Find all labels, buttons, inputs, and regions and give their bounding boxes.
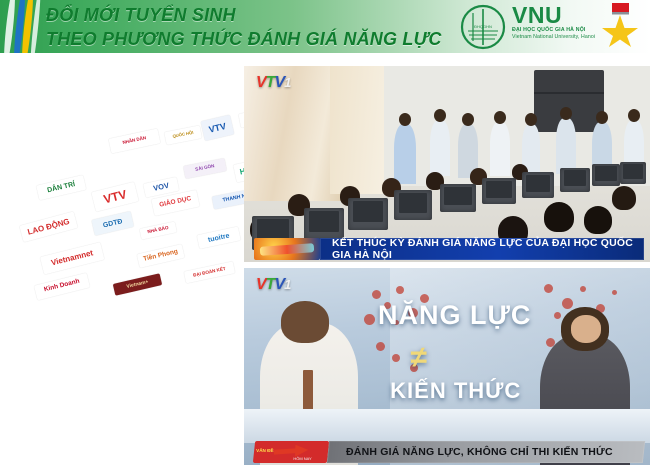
press-logo: LAO ĐỘNG	[19, 211, 77, 242]
slide-root: ĐỔI MỚI TUYỂN SINH THEO PHƯƠNG THỨC ĐÁNH…	[0, 0, 650, 465]
caption-text-bar: KẾT THÚC KỲ ĐÁNH GIÁ NĂNG LỰC CỦA ĐẠI HỌ…	[320, 238, 644, 260]
vnu-wordmark: VNU	[512, 4, 602, 27]
title-line-1: ĐỔI MỚI TUYỂN SINH	[46, 3, 476, 27]
badge-label-van-de: VẤN ĐỀ	[256, 448, 273, 453]
seated-student-head	[612, 186, 636, 210]
standing-person	[430, 120, 450, 176]
standing-person	[556, 118, 576, 174]
exam-computer-monitor	[440, 184, 476, 212]
person-head	[628, 109, 640, 122]
person-head	[434, 109, 446, 122]
badge-label-hom-nay: HÔM NAY	[293, 456, 311, 461]
seated-student-head	[584, 206, 612, 234]
exam-computer-monitor	[482, 178, 516, 204]
exam-room-scene	[244, 66, 650, 262]
flower-decor	[396, 286, 404, 294]
press-logo: Tiền Phong	[137, 244, 185, 268]
seated-student-head	[544, 202, 574, 232]
overlay-text-kien-thuc: KIẾN THỨC	[390, 378, 521, 404]
vtv-letter-v1: V	[256, 276, 266, 293]
flower-decor	[392, 354, 400, 362]
person-head	[560, 107, 572, 120]
vtv-channel-number: 1	[284, 277, 290, 292]
press-logo: Vietnam+	[113, 273, 162, 295]
exam-computer-monitor	[620, 162, 646, 184]
lower-third-caption: KẾT THÚC KỲ ĐÁNH GIÁ NĂNG LỰC CỦA ĐẠI HỌ…	[244, 236, 650, 262]
flower-decor	[544, 284, 553, 293]
overlay-text-nang-luc: NĂNG LỰC	[378, 300, 531, 331]
overlay-symbol-not-equal: ≠	[410, 341, 426, 375]
title-line-2: THEO PHƯƠNG THỨC ĐÁNH GIÁ NĂNG LỰC	[46, 27, 476, 51]
exam-computer-monitor	[348, 198, 388, 230]
press-logo: ĐẠI ĐOÀN KẾT	[184, 261, 235, 283]
news-program-badge	[254, 238, 320, 260]
press-logo: DÂN TRÍ	[36, 175, 86, 200]
press-logo: VTV	[91, 182, 139, 212]
vtv1-channel-logo: VTV1	[256, 74, 290, 92]
studio-desk	[244, 409, 650, 443]
press-logo: Vietnamnet	[40, 242, 105, 274]
lower-third-caption-2: VẤN ĐỀ HÔM NAY ĐÁNH GIÁ NĂNG LỰC, KHÔNG …	[244, 439, 650, 465]
press-logo: NHÂN DÂN	[108, 128, 160, 153]
vnu-emblem-icon: ĐHQGHN	[460, 4, 506, 50]
vtv-letter-v2: V	[274, 276, 284, 293]
press-logo: QUỐC HỘI	[164, 125, 202, 145]
flower-decor	[612, 290, 617, 295]
press-logo: tuoitre	[197, 227, 241, 249]
exam-computer-monitor	[522, 172, 554, 198]
person-head	[525, 113, 537, 126]
press-logo-collage: NHÂN DÂNQUỐC HỘIVTVinfonettuoitreDÂN TRÍ…	[0, 115, 247, 320]
standing-person	[394, 124, 416, 184]
flower-decor	[562, 298, 573, 309]
cabinet-seam	[534, 92, 604, 94]
vtv-letter-v1: V	[256, 74, 266, 91]
curtain-right	[330, 66, 392, 194]
caption-text: KẾT THÚC KỲ ĐÁNH GIÁ NĂNG LỰC CỦA ĐẠI HỌ…	[332, 237, 644, 261]
press-logo: GDTĐ	[91, 211, 134, 236]
vtv-channel-number: 1	[284, 75, 290, 90]
page-title: ĐỔI MỚI TUYỂN SINH THEO PHƯƠNG THỨC ĐÁNH…	[46, 3, 476, 51]
exam-computer-monitor	[592, 164, 620, 186]
caption-text: ĐÁNH GIÁ NĂNG LỰC, KHÔNG CHỈ THI KIẾN TH…	[346, 446, 613, 458]
news-clip-exam-room[interactable]: VTV1 KẾT THÚC KỲ ĐÁNH GIÁ NĂNG LỰC CỦA Đ…	[244, 66, 650, 262]
caption-text-bar-2: ĐÁNH GIÁ NĂNG LỰC, KHÔNG CHỈ THI KIẾN TH…	[327, 441, 645, 463]
slide-header: ĐỔI MỚI TUYỂN SINH THEO PHƯƠNG THỨC ĐÁNH…	[0, 0, 650, 53]
person-head	[399, 113, 411, 126]
vnu-logo: ĐHQGHN VNU ĐẠI HỌC QUỐC GIA HÀ NỘI Vietn…	[460, 2, 642, 52]
studio-guest-face	[571, 315, 601, 343]
flower-decor	[554, 312, 561, 319]
vnu-subtitle-en: Vietnam National University, Hanoi	[512, 34, 602, 41]
exam-computer-monitor	[394, 190, 432, 220]
news-clip-studio-talk[interactable]: NĂNG LỰC ≠ KIẾN THỨC VTV1 VẤN ĐỀ HÔM NAY…	[244, 268, 650, 465]
van-de-hom-nay-badge: VẤN ĐỀ HÔM NAY	[253, 441, 329, 463]
svg-text:ĐHQGHN: ĐHQGHN	[474, 24, 492, 29]
star-flag-icon	[600, 3, 640, 47]
person-head	[462, 113, 474, 126]
flower-decor	[372, 290, 381, 299]
person-head	[596, 111, 608, 124]
standing-person	[490, 122, 510, 176]
press-logo: NHÀ BÁO	[139, 221, 177, 239]
studio-host-head	[281, 301, 330, 342]
exam-computer-monitor	[560, 168, 590, 192]
press-logo: VTV	[201, 115, 235, 141]
flower-decor	[580, 286, 586, 292]
press-logo: SÀI GÒN	[183, 158, 227, 179]
flower-decor	[376, 342, 385, 351]
vnu-subtitle-vi: ĐẠI HỌC QUỐC GIA HÀ NỘI	[512, 27, 602, 34]
person-head	[494, 111, 506, 124]
vtv-letter-v2: V	[274, 74, 284, 91]
press-logo: Kinh Doanh	[34, 273, 90, 301]
vtv1-channel-logo-2: VTV1	[256, 276, 290, 294]
flower-decor	[364, 314, 375, 325]
vnu-wordmark-block: VNU ĐẠI HỌC QUỐC GIA HÀ NỘI Vietnam Nati…	[512, 4, 602, 41]
studio-scene: NĂNG LỰC ≠ KIẾN THỨC	[244, 268, 650, 465]
